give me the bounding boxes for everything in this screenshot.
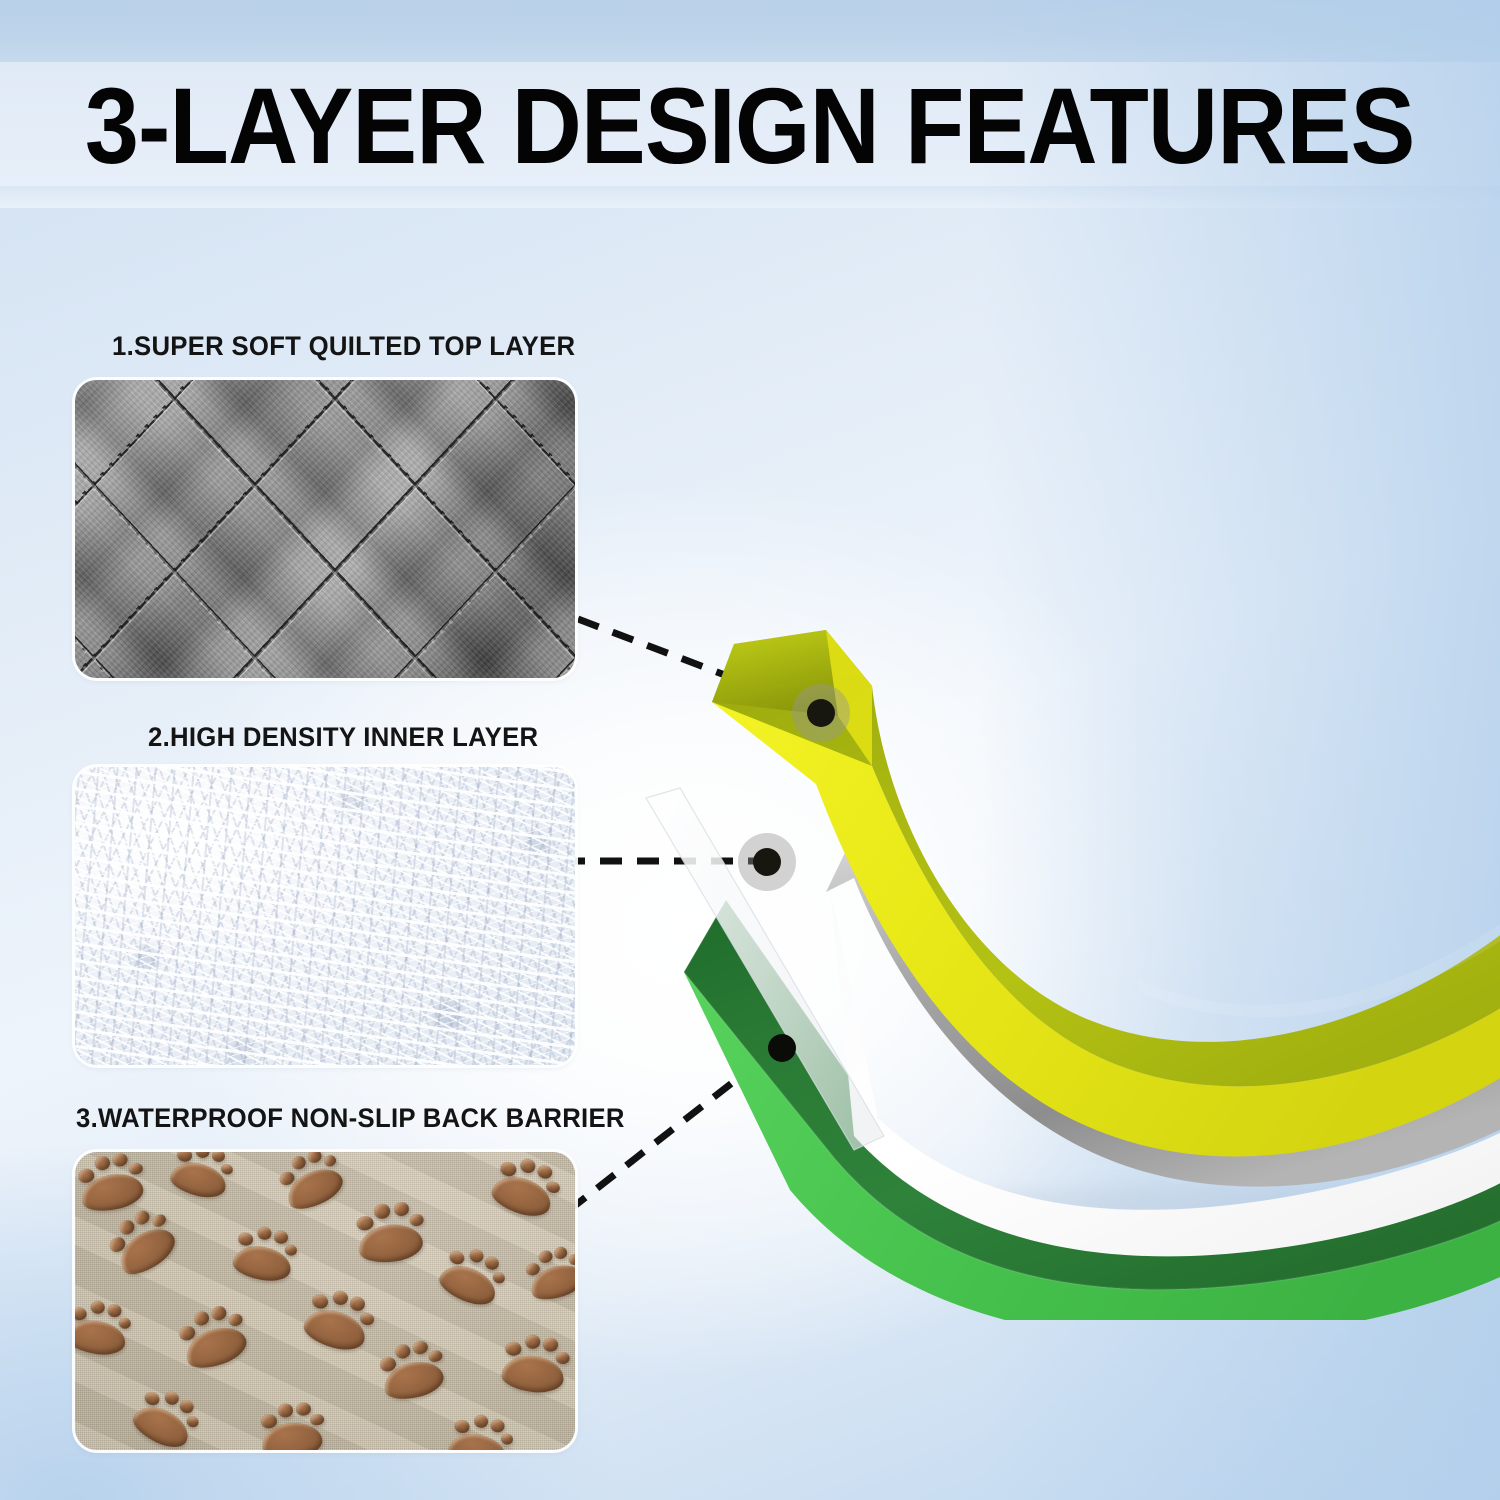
paw-toe xyxy=(499,1160,518,1178)
paw-toe xyxy=(483,1255,501,1272)
feature-label-3: 3.WATERPROOF NON-SLIP BACK BARRIER xyxy=(76,1103,625,1134)
swatch-image-3 xyxy=(75,1152,575,1450)
quilt-noise-overlay xyxy=(75,380,575,678)
paw-toe xyxy=(472,1413,489,1429)
paw-toe xyxy=(277,1403,293,1418)
paw-toe xyxy=(93,1155,111,1171)
fiber-strands-cross xyxy=(75,767,575,1065)
paw-toe xyxy=(394,1343,412,1360)
paw-toe xyxy=(178,1398,196,1415)
paw-toe xyxy=(237,1231,254,1246)
feature-label-1: 1.SUPER SOFT QUILTED TOP LAYER xyxy=(112,331,575,362)
white-fiber-batting-swatch[interactable] xyxy=(75,767,575,1065)
paw-toe xyxy=(524,1334,541,1349)
paw-print-icon xyxy=(75,1296,130,1358)
paw-toe xyxy=(273,1230,289,1245)
three-layer-cross-section-illustration xyxy=(640,620,1500,1320)
page-title: 3-LAYER DESIGN FEATURES xyxy=(85,72,1415,180)
paw-toe xyxy=(75,1306,88,1321)
paw-toe xyxy=(519,1157,537,1174)
paw-toe xyxy=(393,1201,410,1217)
paw-toe xyxy=(454,1418,471,1434)
paw-toe xyxy=(210,1152,226,1163)
marker-core xyxy=(753,848,781,876)
beige-paw-print-swatch[interactable] xyxy=(75,1152,575,1450)
paw-toe xyxy=(210,1304,229,1322)
marker-core xyxy=(768,1034,796,1062)
paw-toe xyxy=(349,1295,367,1312)
paw-toe xyxy=(192,1309,211,1327)
paw-toe xyxy=(505,1341,522,1357)
paw-toe xyxy=(331,1289,350,1307)
paw-toe xyxy=(553,1245,569,1260)
paw-print-icon xyxy=(500,1331,568,1395)
paw-toe xyxy=(412,1340,429,1356)
paw-toe xyxy=(374,1203,392,1219)
paw-toe xyxy=(295,1402,311,1416)
paw-toe xyxy=(112,1152,129,1168)
paw-toe xyxy=(536,1164,554,1181)
paw-toe xyxy=(537,1249,554,1265)
paw-toe xyxy=(489,1418,505,1433)
feature-label-2: 2.HIGH DENSITY INNER LAYER xyxy=(148,722,538,753)
paw-toe xyxy=(289,1154,308,1172)
paw-toe xyxy=(467,1247,485,1264)
paw-toe xyxy=(194,1152,211,1159)
paw-print-icon xyxy=(258,1399,324,1450)
paw-toe xyxy=(176,1152,193,1163)
paw-toe xyxy=(311,1293,330,1311)
swatch-image-2 xyxy=(75,767,575,1065)
paw-print-icon xyxy=(231,1221,297,1284)
paw-toe xyxy=(448,1249,467,1267)
page-title-bar: 3-LAYER DESIGN FEATURES xyxy=(0,62,1500,190)
paw-toe xyxy=(256,1226,273,1241)
paw-toe xyxy=(543,1337,559,1352)
quilted-gray-velvet-swatch[interactable] xyxy=(75,380,575,678)
paw-toe xyxy=(305,1152,323,1165)
paw-toe xyxy=(89,1300,105,1315)
paw-print-icon xyxy=(353,1198,425,1266)
paw-toe xyxy=(133,1209,152,1228)
swatch-image-1 xyxy=(75,380,575,678)
paw-toe xyxy=(107,1303,122,1317)
marker-core xyxy=(807,699,835,727)
paw-toe xyxy=(568,1252,575,1266)
paw-toe xyxy=(143,1389,162,1407)
